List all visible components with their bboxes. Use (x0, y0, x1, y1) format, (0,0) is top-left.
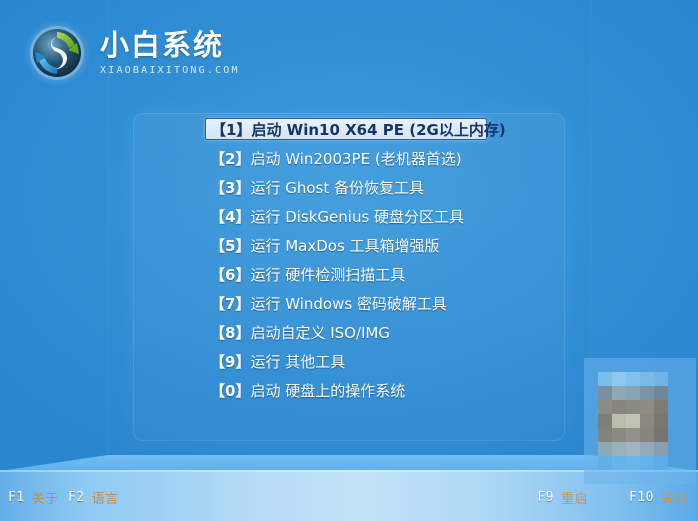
mosaic-pixel (668, 358, 682, 372)
mosaic-pixel (654, 400, 668, 414)
mosaic-pixel (626, 456, 640, 470)
mosaic-pixel (612, 442, 626, 456)
mosaic-pixel (626, 386, 640, 400)
mosaic-pixel (682, 386, 696, 400)
mosaic-pixel (640, 442, 654, 456)
mosaic-pixel (668, 470, 682, 484)
mosaic-pixel (668, 442, 682, 456)
mosaic-pixel (612, 386, 626, 400)
mosaic-pixel (640, 358, 654, 372)
mosaic-pixel (626, 400, 640, 414)
mosaic-pixel (668, 372, 682, 386)
footer-key-f9-key: F9 (537, 490, 554, 505)
boot-menu-list[interactable]: 【1】启动 Win10 X64 PE (2G以上内存) 【2】启动 Win200… (133, 118, 565, 408)
mosaic-pixel (654, 358, 668, 372)
mosaic-pixel (654, 428, 668, 442)
mosaic-pixel (626, 428, 640, 442)
recycle-circle-logo-icon (24, 20, 90, 86)
footer-key-f10-key: F10 (629, 490, 654, 505)
mosaic-pixel (626, 442, 640, 456)
footer-key-f2-key: F2 (68, 490, 85, 505)
menu-item-7-key: 【7】 (210, 293, 250, 314)
mosaic-pixel (682, 456, 696, 470)
brand-logo: 小白系统 XIAOBAIXITONG.COM (24, 20, 240, 86)
mosaic-censored-block (584, 358, 696, 478)
mosaic-pixel (598, 470, 612, 484)
mosaic-pixel (612, 456, 626, 470)
menu-item-2-label: 启动 Win2003PE (老机器首选) (250, 148, 461, 169)
mosaic-pixel (640, 414, 654, 428)
mosaic-pixel (668, 428, 682, 442)
footer-key-f10[interactable]: F10 关机 (629, 488, 688, 507)
mosaic-pixel (682, 372, 696, 386)
mosaic-pixel (682, 428, 696, 442)
mosaic-pixel (612, 428, 626, 442)
mosaic-pixel (584, 428, 598, 442)
mosaic-pixel (682, 414, 696, 428)
mosaic-pixel (584, 386, 598, 400)
mosaic-pixel (654, 372, 668, 386)
mosaic-pixel (654, 442, 668, 456)
mosaic-pixel (668, 456, 682, 470)
menu-item-2[interactable]: 【2】启动 Win2003PE (老机器首选) (133, 147, 565, 169)
mosaic-pixel (668, 414, 682, 428)
mosaic-pixel (668, 400, 682, 414)
menu-item-5-key: 【5】 (210, 235, 250, 256)
mosaic-pixel (584, 358, 598, 372)
menu-item-9[interactable]: 【9】运行 其他工具 (133, 350, 565, 372)
mosaic-pixel (654, 414, 668, 428)
mosaic-pixel (654, 386, 668, 400)
footer-key-f2-label: 语言 (92, 488, 119, 507)
menu-item-3-key: 【3】 (210, 177, 250, 198)
menu-item-3-label: 运行 Ghost 备份恢复工具 (250, 177, 424, 198)
menu-item-3[interactable]: 【3】运行 Ghost 备份恢复工具 (133, 176, 565, 198)
menu-item-9-key: 【9】 (210, 351, 250, 372)
mosaic-pixel (598, 386, 612, 400)
menu-item-6[interactable]: 【6】运行 硬件检测扫描工具 (133, 263, 565, 285)
mosaic-pixel (612, 414, 626, 428)
mosaic-pixel (640, 386, 654, 400)
menu-item-7-label: 运行 Windows 密码破解工具 (250, 293, 447, 314)
mosaic-pixel (598, 372, 612, 386)
mosaic-pixel (640, 400, 654, 414)
mosaic-pixel (654, 456, 668, 470)
mosaic-pixel (682, 358, 696, 372)
mosaic-pixel (584, 442, 598, 456)
menu-item-4[interactable]: 【4】运行 DiskGenius 硬盘分区工具 (133, 205, 565, 227)
mosaic-pixel (682, 442, 696, 456)
menu-item-7[interactable]: 【7】运行 Windows 密码破解工具 (133, 292, 565, 314)
brand-text: 小白系统 XIAOBAIXITONG.COM (100, 31, 240, 76)
mosaic-pixel (584, 400, 598, 414)
mosaic-pixel (598, 414, 612, 428)
mosaic-pixel (584, 414, 598, 428)
menu-item-1-label: 启动 Win10 X64 PE (2G以上内存) (251, 119, 505, 140)
menu-item-5-label: 运行 MaxDos 工具箱增强版 (250, 235, 439, 256)
menu-item-8-label: 启动自定义 ISO/IMG (250, 322, 390, 343)
mosaic-pixel (626, 358, 640, 372)
menu-item-9-label: 运行 其他工具 (250, 351, 345, 372)
mosaic-pixel (584, 372, 598, 386)
menu-item-4-label: 运行 DiskGenius 硬盘分区工具 (250, 206, 464, 227)
footer-key-f1[interactable]: F1 关于 (8, 488, 59, 507)
mosaic-pixel (612, 358, 626, 372)
menu-item-0-key: 【0】 (210, 380, 250, 401)
mosaic-pixel (640, 428, 654, 442)
mosaic-pixel (682, 470, 696, 484)
menu-item-6-key: 【6】 (210, 264, 250, 285)
mosaic-pixel (640, 470, 654, 484)
menu-item-8[interactable]: 【8】启动自定义 ISO/IMG (133, 321, 565, 343)
footer-key-f1-key: F1 (8, 490, 25, 505)
mosaic-pixel (640, 456, 654, 470)
mosaic-pixel (668, 386, 682, 400)
footer-key-f9[interactable]: F9 重启 (537, 488, 588, 507)
mosaic-pixel (598, 400, 612, 414)
brand-name-en: XIAOBAIXITONG.COM (100, 66, 240, 76)
menu-item-1[interactable]: 【1】启动 Win10 X64 PE (2G以上内存) (205, 118, 487, 140)
menu-item-0[interactable]: 【0】启动 硬盘上的操作系统 (133, 379, 565, 401)
mosaic-pixel (598, 442, 612, 456)
mosaic-pixel (640, 372, 654, 386)
footer-key-f9-label: 重启 (561, 488, 588, 507)
menu-item-5[interactable]: 【5】运行 MaxDos 工具箱增强版 (133, 234, 565, 256)
mosaic-pixel (626, 470, 640, 484)
mosaic-pixel (612, 470, 626, 484)
boot-menu-screen: 小白系统 XIAOBAIXITONG.COM 【1】启动 Win10 X64 P… (0, 0, 698, 521)
footer-key-f2[interactable]: F2 语言 (68, 488, 119, 507)
menu-item-1-key: 【1】 (211, 119, 251, 140)
menu-item-0-label: 启动 硬盘上的操作系统 (250, 380, 405, 401)
brand-name-cn: 小白系统 (100, 31, 240, 60)
footer-key-f10-label: 关机 (661, 488, 688, 507)
mosaic-pixel (612, 372, 626, 386)
footer-key-f1-label: 关于 (32, 488, 59, 507)
mosaic-pixel (584, 470, 598, 484)
menu-item-4-key: 【4】 (210, 206, 250, 227)
mosaic-pixel (626, 372, 640, 386)
mosaic-pixel (598, 358, 612, 372)
menu-item-2-key: 【2】 (210, 148, 250, 169)
mosaic-pixel (598, 428, 612, 442)
menu-item-8-key: 【8】 (210, 322, 250, 343)
mosaic-pixel (612, 400, 626, 414)
mosaic-pixel (626, 414, 640, 428)
mosaic-pixel (584, 456, 598, 470)
mosaic-pixel (654, 470, 668, 484)
mosaic-pixel (598, 456, 612, 470)
mosaic-pixel (682, 400, 696, 414)
menu-item-6-label: 运行 硬件检测扫描工具 (250, 264, 405, 285)
